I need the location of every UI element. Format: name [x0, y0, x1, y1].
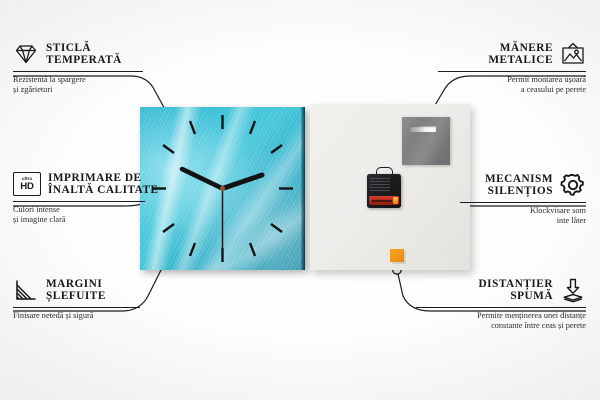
hands-pivot: [220, 186, 225, 191]
callout-foam-spacer: DISTANȚIER SPUMĂ Permite menținerea unei…: [416, 277, 586, 331]
clock-hands: [182, 169, 262, 249]
clock-face-front: [140, 107, 305, 270]
callout-tempered-glass: STICLĂ TEMPERATĂ Rezistentă la spargere …: [13, 41, 183, 95]
polished-edge-icon: [13, 277, 39, 303]
quartz-mechanism: [367, 172, 401, 208]
callout-divider: [438, 71, 586, 72]
callout-header: DISTANȚIER SPUMĂ: [416, 277, 586, 303]
callout-subtitle: Permit montarea ușoară a ceasului pe per…: [416, 75, 586, 95]
hanger-slot: [410, 126, 436, 132]
hour-hand: [223, 175, 263, 189]
battery: [369, 196, 399, 205]
callout-silent-mechanism: MECANISM SILENȚIOS Klockvisare som inte …: [416, 172, 586, 226]
infographic-canvas: STICLĂ TEMPERATĂ Rezistentă la spargere …: [0, 0, 600, 400]
gear-icon: [560, 172, 586, 198]
callout-divider: [13, 201, 145, 202]
battery-label: [372, 200, 392, 202]
glass-edge: [301, 107, 305, 270]
picture-hanger-icon: [560, 41, 586, 67]
callout-title: MECANISM SILENȚIOS: [485, 173, 553, 198]
metal-hanger-plate: [402, 117, 450, 165]
callout-subtitle: Permite menținerea unei distanțe constan…: [416, 311, 586, 331]
callout-polished-edges: MARGINI ȘLEFUITE Finisare netedă și sigu…: [13, 277, 183, 321]
callout-title: MĂNERE METALICE: [488, 42, 553, 67]
callout-subtitle: Klockvisare som inte låter: [416, 206, 586, 226]
ultra-hd-main-label: HD: [20, 182, 33, 192]
foam-spacer-pad: [390, 249, 404, 262]
callout-header: MARGINI ȘLEFUITE: [13, 277, 183, 303]
minute-hand: [182, 169, 223, 189]
callout-divider: [460, 202, 586, 203]
ultra-hd-icon: ultra HD: [13, 172, 41, 196]
diamond-icon: [13, 41, 39, 67]
clock-dial: [140, 107, 305, 270]
callout-subtitle: Finisare netedă și sigură: [13, 311, 183, 321]
callout-title: MARGINI ȘLEFUITE: [46, 278, 106, 303]
callout-divider: [13, 307, 140, 308]
callout-header: MECANISM SILENȚIOS: [416, 172, 586, 198]
callout-title: STICLĂ TEMPERATĂ: [46, 42, 122, 67]
callout-title: DISTANȚIER SPUMĂ: [479, 278, 553, 303]
foam-spacer-icon: [560, 277, 586, 303]
callout-divider: [416, 307, 586, 308]
callout-subtitle: Rezistentă la spargere și zgârieturi: [13, 75, 183, 95]
callout-header: STICLĂ TEMPERATĂ: [13, 41, 183, 67]
callout-metal-handles: MĂNERE METALICE Permit montarea ușoară a…: [416, 41, 586, 95]
mechanism-housing: [367, 174, 401, 208]
callout-divider: [13, 71, 143, 72]
callout-header: MĂNERE METALICE: [416, 41, 586, 67]
